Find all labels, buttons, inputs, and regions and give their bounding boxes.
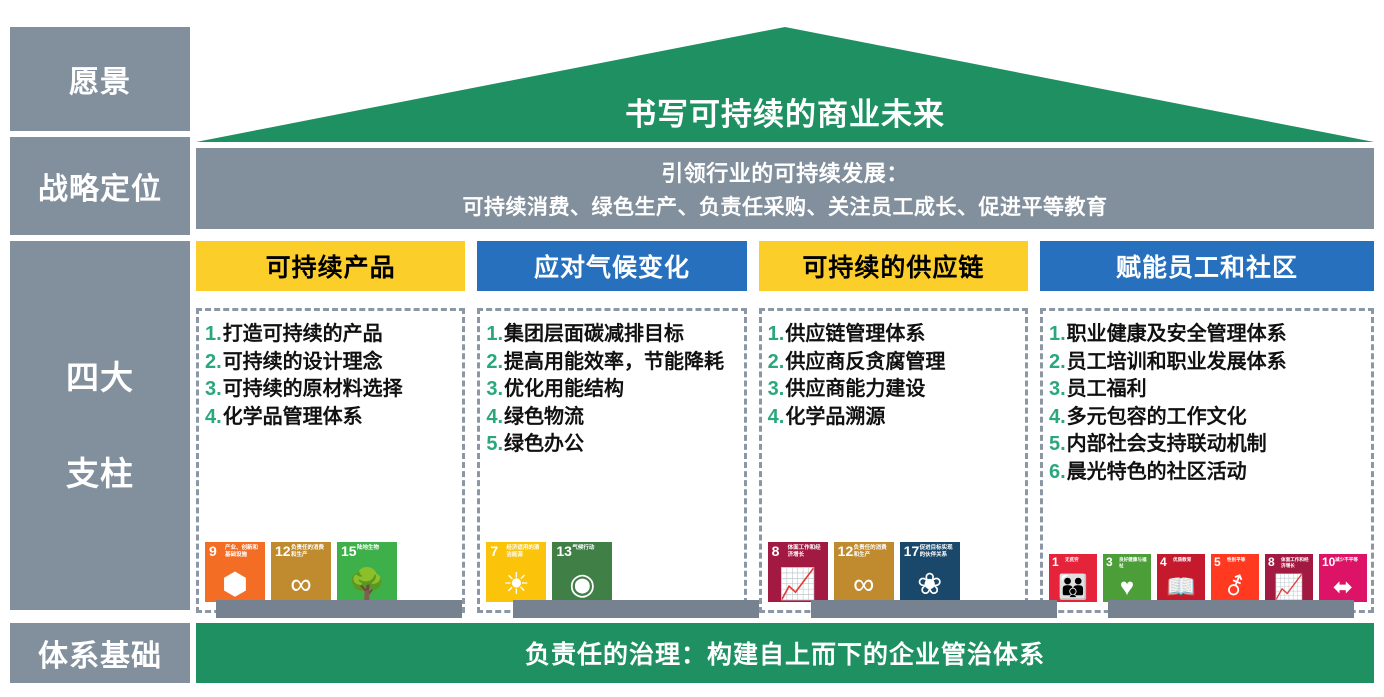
rail-strategy-text: 战略定位 [38, 164, 162, 208]
list-item-label: 化学品溯源 [785, 404, 1021, 431]
list-item-number: 4. [1049, 404, 1066, 431]
sdg-number: 4 [1160, 556, 1167, 568]
sdg-label: 良好健康与福祉 [1119, 557, 1149, 568]
list-item-number: 4. [486, 404, 503, 431]
sdg-number: 7 [490, 544, 498, 558]
pillar-2: 应对气候变化1.集团层面碳减排目标2.提高用能效率，节能降耗3.优化用能结构4.… [477, 241, 746, 613]
list-item: 4.多元包容的工作文化 [1049, 404, 1367, 431]
four-pillars-row: 可持续产品1.打造可持续的产品2.可持续的设计理念3.可持续的原材料选择4.化学… [196, 241, 1374, 613]
list-item-number: 3. [205, 376, 222, 403]
sustainability-house-diagram: 愿景 战略定位 四大 支柱 体系基础 书写可持续的商业未来 引领行业的可持续发展… [0, 0, 1384, 697]
pillar-item-list-3: 1.供应链管理体系2.供应商反贪腐管理3.供应商能力建设4.化学品溯源 [768, 321, 1021, 431]
list-item-label: 员工福利 [1067, 376, 1367, 403]
list-item-label: 职业健康及安全管理体系 [1067, 321, 1367, 348]
list-item-number: 4. [205, 404, 222, 431]
sdg-number: 12 [275, 544, 291, 558]
rail-label-pillars: 四大 支柱 [10, 241, 190, 610]
sdg-13-icon: 13气候行动◉ [552, 542, 612, 602]
list-item-number: 3. [768, 376, 785, 403]
list-item: 4.绿色物流 [486, 404, 739, 431]
list-item: 5.内部社会支持联动机制 [1049, 431, 1367, 458]
sdg-icon-row-3: 8体面工作和经济增长📈12负责任的消费和生产∞17促进目标实现的伙伴关系❀ [768, 542, 1021, 604]
sdg-8-icon: 8体面工作和经济增长📈 [1265, 554, 1313, 602]
list-item-number: 2. [768, 349, 785, 376]
list-item-number: 1. [486, 321, 503, 348]
pillar-item-list-4: 1.职业健康及安全管理体系2.员工培训和职业发展体系3.员工福利4.多元包容的工… [1049, 321, 1367, 487]
roof-vision-title: 书写可持续的商业未来 [196, 89, 1374, 134]
list-item-number: 6. [1049, 459, 1066, 486]
sdg-number: 8 [1268, 556, 1275, 568]
pillar-4: 赋能员工和社区1.职业健康及安全管理体系2.员工培训和职业发展体系3.员工福利4… [1040, 241, 1374, 613]
pedestal-slot-2 [494, 600, 780, 618]
sdg-label: 减少不平等 [1335, 557, 1365, 563]
list-item: 1.打造可持续的产品 [205, 321, 458, 348]
sdg-number: 3 [1106, 556, 1113, 568]
foundation-band: 负责任的治理：构建自上而下的企业管治体系 [196, 623, 1374, 683]
list-item-label: 绿色物流 [504, 404, 740, 431]
sdg-label: 性别平等 [1227, 557, 1257, 563]
sdg-8-icon: 8体面工作和经济增长📈 [768, 542, 828, 602]
list-item-number: 1. [205, 321, 222, 348]
sdg-glyph-icon: ❀ [900, 570, 960, 600]
list-item-label: 化学品管理体系 [223, 404, 459, 431]
list-item-number: 2. [205, 349, 222, 376]
sdg-glyph-icon: 📈 [1265, 576, 1313, 600]
sdg-glyph-icon: ⬢ [205, 570, 265, 600]
list-item: 5.绿色办公 [486, 431, 739, 458]
sdg-icon-row-2: 7经济适用的清洁能源☀13气候行动◉ [486, 542, 739, 604]
list-item-number: 1. [768, 321, 785, 348]
list-item-label: 供应链管理体系 [785, 321, 1021, 348]
pillar-body-1: 1.打造可持续的产品2.可持续的设计理念3.可持续的原材料选择4.化学品管理体系… [196, 308, 465, 613]
list-item-label: 内部社会支持联动机制 [1067, 431, 1367, 458]
list-item: 1.集团层面碳减排目标 [486, 321, 739, 348]
list-item-number: 4. [768, 404, 785, 431]
pedestal-slot-4 [1089, 600, 1375, 618]
roof-vision-banner: 书写可持续的商业未来 [196, 27, 1374, 142]
list-item-label: 供应商能力建设 [785, 376, 1021, 403]
list-item: 6.晨光特色的社区活动 [1049, 459, 1367, 486]
list-item: 3.优化用能结构 [486, 376, 739, 403]
list-item: 1.职业健康及安全管理体系 [1049, 321, 1367, 348]
sdg-number: 13 [556, 544, 572, 558]
sdg-label: 产业、创新和基础设施 [225, 545, 263, 558]
sdg-17-icon: 17促进目标实现的伙伴关系❀ [900, 542, 960, 602]
sdg-number: 1 [1052, 556, 1059, 568]
pedestal-bar-3 [811, 600, 1057, 618]
rail-pillars-line1: 四大 [66, 343, 134, 412]
list-item-number: 3. [486, 376, 503, 403]
pillar-body-2: 1.集团层面碳减排目标2.提高用能效率，节能降耗3.优化用能结构4.绿色物流5.… [477, 308, 746, 613]
list-item-label: 提高用能效率，节能降耗 [504, 349, 740, 376]
foundation-text: 负责任的治理：构建自上而下的企业管治体系 [525, 635, 1045, 671]
sdg-glyph-icon: 👪 [1049, 576, 1097, 600]
sdg-15-icon: 15陆地生物🌳 [337, 542, 397, 602]
list-item-label: 绿色办公 [504, 431, 740, 458]
list-item: 2.供应商反贪腐管理 [768, 349, 1021, 376]
sdg-icon-row-1: 9产业、创新和基础设施⬢12负责任的消费和生产∞15陆地生物🌳 [205, 542, 458, 604]
sdg-glyph-icon: ☀ [486, 570, 546, 600]
list-item: 3.可持续的原材料选择 [205, 376, 458, 403]
list-item-label: 优化用能结构 [504, 376, 740, 403]
sdg-label: 负责任的消费和生产 [854, 545, 892, 558]
sdg-12-icon: 12负责任的消费和生产∞ [834, 542, 894, 602]
sdg-number: 5 [1214, 556, 1221, 568]
list-item: 2.员工培训和职业发展体系 [1049, 349, 1367, 376]
sdg-glyph-icon: 📈 [768, 570, 828, 600]
pillar-1: 可持续产品1.打造可持续的产品2.可持续的设计理念3.可持续的原材料选择4.化学… [196, 241, 465, 613]
pillar-item-list-2: 1.集团层面碳减排目标2.提高用能效率，节能降耗3.优化用能结构4.绿色物流5.… [486, 321, 739, 459]
sdg-4-icon: 4优质教育📖 [1157, 554, 1205, 602]
sdg-number: 10 [1322, 556, 1335, 568]
list-item-label: 可持续的设计理念 [223, 349, 459, 376]
pillar-item-list-1: 1.打造可持续的产品2.可持续的设计理念3.可持续的原材料选择4.化学品管理体系 [205, 321, 458, 431]
pillar-3: 可持续的供应链1.供应链管理体系2.供应商反贪腐管理3.供应商能力建设4.化学品… [759, 241, 1028, 613]
sdg-1-icon: 1无贫穷👪 [1049, 554, 1097, 602]
pedestal-bar-2 [513, 600, 759, 618]
sdg-12-icon: 12负责任的消费和生产∞ [271, 542, 331, 602]
pillar-header-4[interactable]: 赋能员工和社区 [1040, 241, 1374, 291]
list-item-number: 1. [1049, 321, 1066, 348]
sdg-glyph-icon: 📖 [1157, 576, 1205, 600]
sdg-label: 经济适用的清洁能源 [506, 545, 544, 558]
list-item-number: 5. [486, 431, 503, 458]
sdg-number: 17 [904, 544, 920, 558]
sdg-glyph-icon: ⚦ [1211, 576, 1259, 600]
sdg-10-icon: 10减少不平等⬌ [1319, 554, 1367, 602]
list-item-label: 多元包容的工作文化 [1067, 404, 1367, 431]
sdg-label: 促进目标实现的伙伴关系 [920, 545, 958, 558]
pedestal-slot-3 [791, 600, 1077, 618]
list-item-number: 5. [1049, 431, 1066, 458]
list-item: 4.化学品溯源 [768, 404, 1021, 431]
list-item: 3.供应商能力建设 [768, 376, 1021, 403]
list-item-label: 员工培训和职业发展体系 [1067, 349, 1367, 376]
sdg-number: 15 [341, 544, 357, 558]
list-item-label: 晨光特色的社区活动 [1067, 459, 1367, 486]
strategy-line-1: 引领行业的可持续发展： [661, 156, 909, 188]
rail-pillars-line2: 支柱 [66, 439, 134, 508]
list-item-number: 2. [486, 349, 503, 376]
sdg-number: 9 [209, 544, 217, 558]
sdg-5-icon: 5性别平等⚦ [1211, 554, 1259, 602]
sdg-glyph-icon: 🌳 [337, 570, 397, 600]
list-item-label: 打造可持续的产品 [223, 321, 459, 348]
pedestal-slot-1 [196, 600, 482, 618]
sdg-glyph-icon: ⬌ [1319, 576, 1367, 600]
rail-vision-text: 愿景 [69, 57, 131, 101]
rail-label-strategy: 战略定位 [10, 137, 190, 235]
pedestal-bar-4 [1108, 600, 1354, 618]
rail-label-vision: 愿景 [10, 27, 190, 131]
sdg-3-icon: 3良好健康与福祉♥ [1103, 554, 1151, 602]
list-item-label: 集团层面碳减排目标 [504, 321, 740, 348]
pillar-body-4: 1.职业健康及安全管理体系2.员工培训和职业发展体系3.员工福利4.多元包容的工… [1040, 308, 1374, 613]
sdg-glyph-icon: ∞ [834, 570, 894, 600]
sdg-number: 8 [772, 544, 780, 558]
pillar-pedestals-row [196, 600, 1374, 618]
pillar-header-1[interactable]: 可持续产品 [196, 241, 465, 291]
pedestal-bar-1 [216, 600, 462, 618]
sdg-label: 陆地生物 [357, 545, 395, 552]
sdg-label: 无贫穷 [1065, 557, 1095, 563]
pillar-body-3: 1.供应链管理体系2.供应商反贪腐管理3.供应商能力建设4.化学品溯源8体面工作… [759, 308, 1028, 613]
sdg-icon-row-4: 1无贫穷👪3良好健康与福祉♥4优质教育📖5性别平等⚦8体面工作和经济增长📈10减… [1049, 554, 1367, 604]
sdg-glyph-icon: ∞ [271, 570, 331, 600]
sdg-label: 体面工作和经济增长 [788, 545, 826, 558]
list-item-number: 2. [1049, 349, 1066, 376]
sdg-glyph-icon: ◉ [552, 570, 612, 600]
list-item-number: 3. [1049, 376, 1066, 403]
sdg-label: 负责任的消费和生产 [291, 545, 329, 558]
sdg-9-icon: 9产业、创新和基础设施⬢ [205, 542, 265, 602]
sdg-glyph-icon: ♥ [1103, 576, 1151, 600]
strategy-positioning-band: 引领行业的可持续发展： 可持续消费、绿色生产、负责任采购、关注员工成长、促进平等… [196, 148, 1374, 229]
list-item: 1.供应链管理体系 [768, 321, 1021, 348]
sdg-7-icon: 7经济适用的清洁能源☀ [486, 542, 546, 602]
list-item: 3.员工福利 [1049, 376, 1367, 403]
pillar-header-2[interactable]: 应对气候变化 [477, 241, 746, 291]
list-item-label: 供应商反贪腐管理 [785, 349, 1021, 376]
sdg-number: 12 [838, 544, 854, 558]
list-item: 2.提高用能效率，节能降耗 [486, 349, 739, 376]
pillar-header-3[interactable]: 可持续的供应链 [759, 241, 1028, 291]
sdg-label: 气候行动 [572, 545, 610, 552]
list-item: 4.化学品管理体系 [205, 404, 458, 431]
list-item-label: 可持续的原材料选择 [223, 376, 459, 403]
rail-label-foundation: 体系基础 [10, 623, 190, 683]
sdg-label: 体面工作和经济增长 [1281, 557, 1311, 568]
strategy-line-2: 可持续消费、绿色生产、负责任采购、关注员工成长、促进平等教育 [463, 191, 1108, 221]
sdg-label: 优质教育 [1173, 557, 1203, 563]
rail-foundation-text: 体系基础 [38, 631, 162, 675]
list-item: 2.可持续的设计理念 [205, 349, 458, 376]
